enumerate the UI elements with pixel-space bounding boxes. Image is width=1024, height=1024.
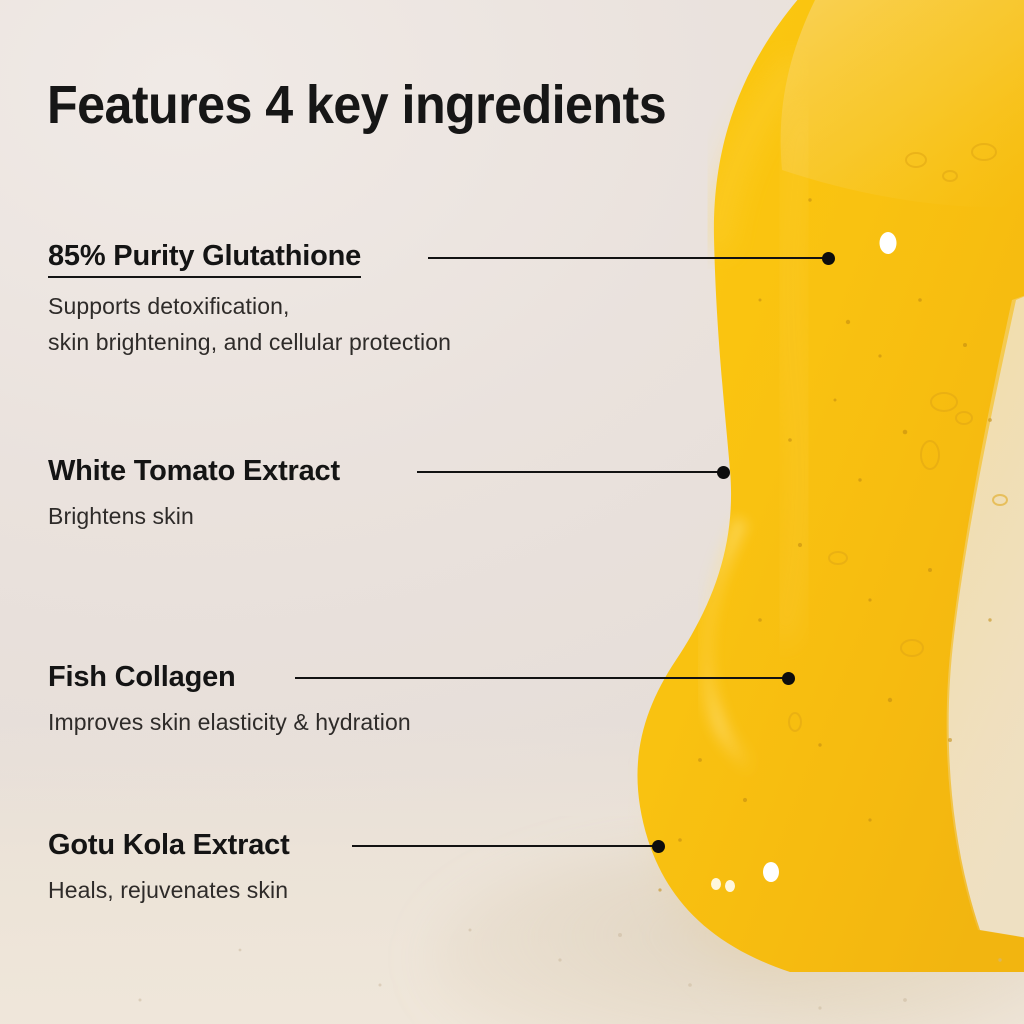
ingredient-name-4: Gotu Kola Extract (48, 829, 290, 862)
ingredient-desc-1-line-2: skin brightening, and cellular protectio… (48, 324, 451, 360)
leader-dot-2 (717, 466, 730, 479)
ingredient-desc-2-line-1: Brightens skin (48, 498, 340, 534)
ingredient-block-3: Fish Collagen Improves skin elasticity &… (48, 661, 411, 740)
leader-dot-3 (782, 672, 795, 685)
page-title: Features 4 key ingredients (47, 74, 666, 136)
ingredient-desc-1-line-1: Supports detoxification, (48, 288, 451, 324)
ingredient-block-1: 85% Purity Glutathione Supports detoxifi… (48, 240, 451, 360)
ingredient-block-4: Gotu Kola Extract Heals, rejuvenates ski… (48, 829, 290, 908)
leader-dot-4 (652, 840, 665, 853)
ingredient-name-2: White Tomato Extract (48, 455, 340, 488)
ingredient-desc-3-line-1: Improves skin elasticity & hydration (48, 704, 411, 740)
product-ingredient-infographic: Features 4 key ingredients 85% Purity Gl… (0, 0, 1024, 1024)
leader-dot-1 (822, 252, 835, 265)
ingredient-block-2: White Tomato Extract Brightens skin (48, 455, 340, 534)
leader-line-4 (352, 845, 660, 847)
ingredient-name-3: Fish Collagen (48, 661, 236, 694)
ingredient-name-1: 85% Purity Glutathione (48, 240, 361, 278)
leader-line-1 (428, 257, 830, 259)
leader-line-2 (417, 471, 725, 473)
ingredient-desc-4-line-1: Heals, rejuvenates skin (48, 872, 290, 908)
